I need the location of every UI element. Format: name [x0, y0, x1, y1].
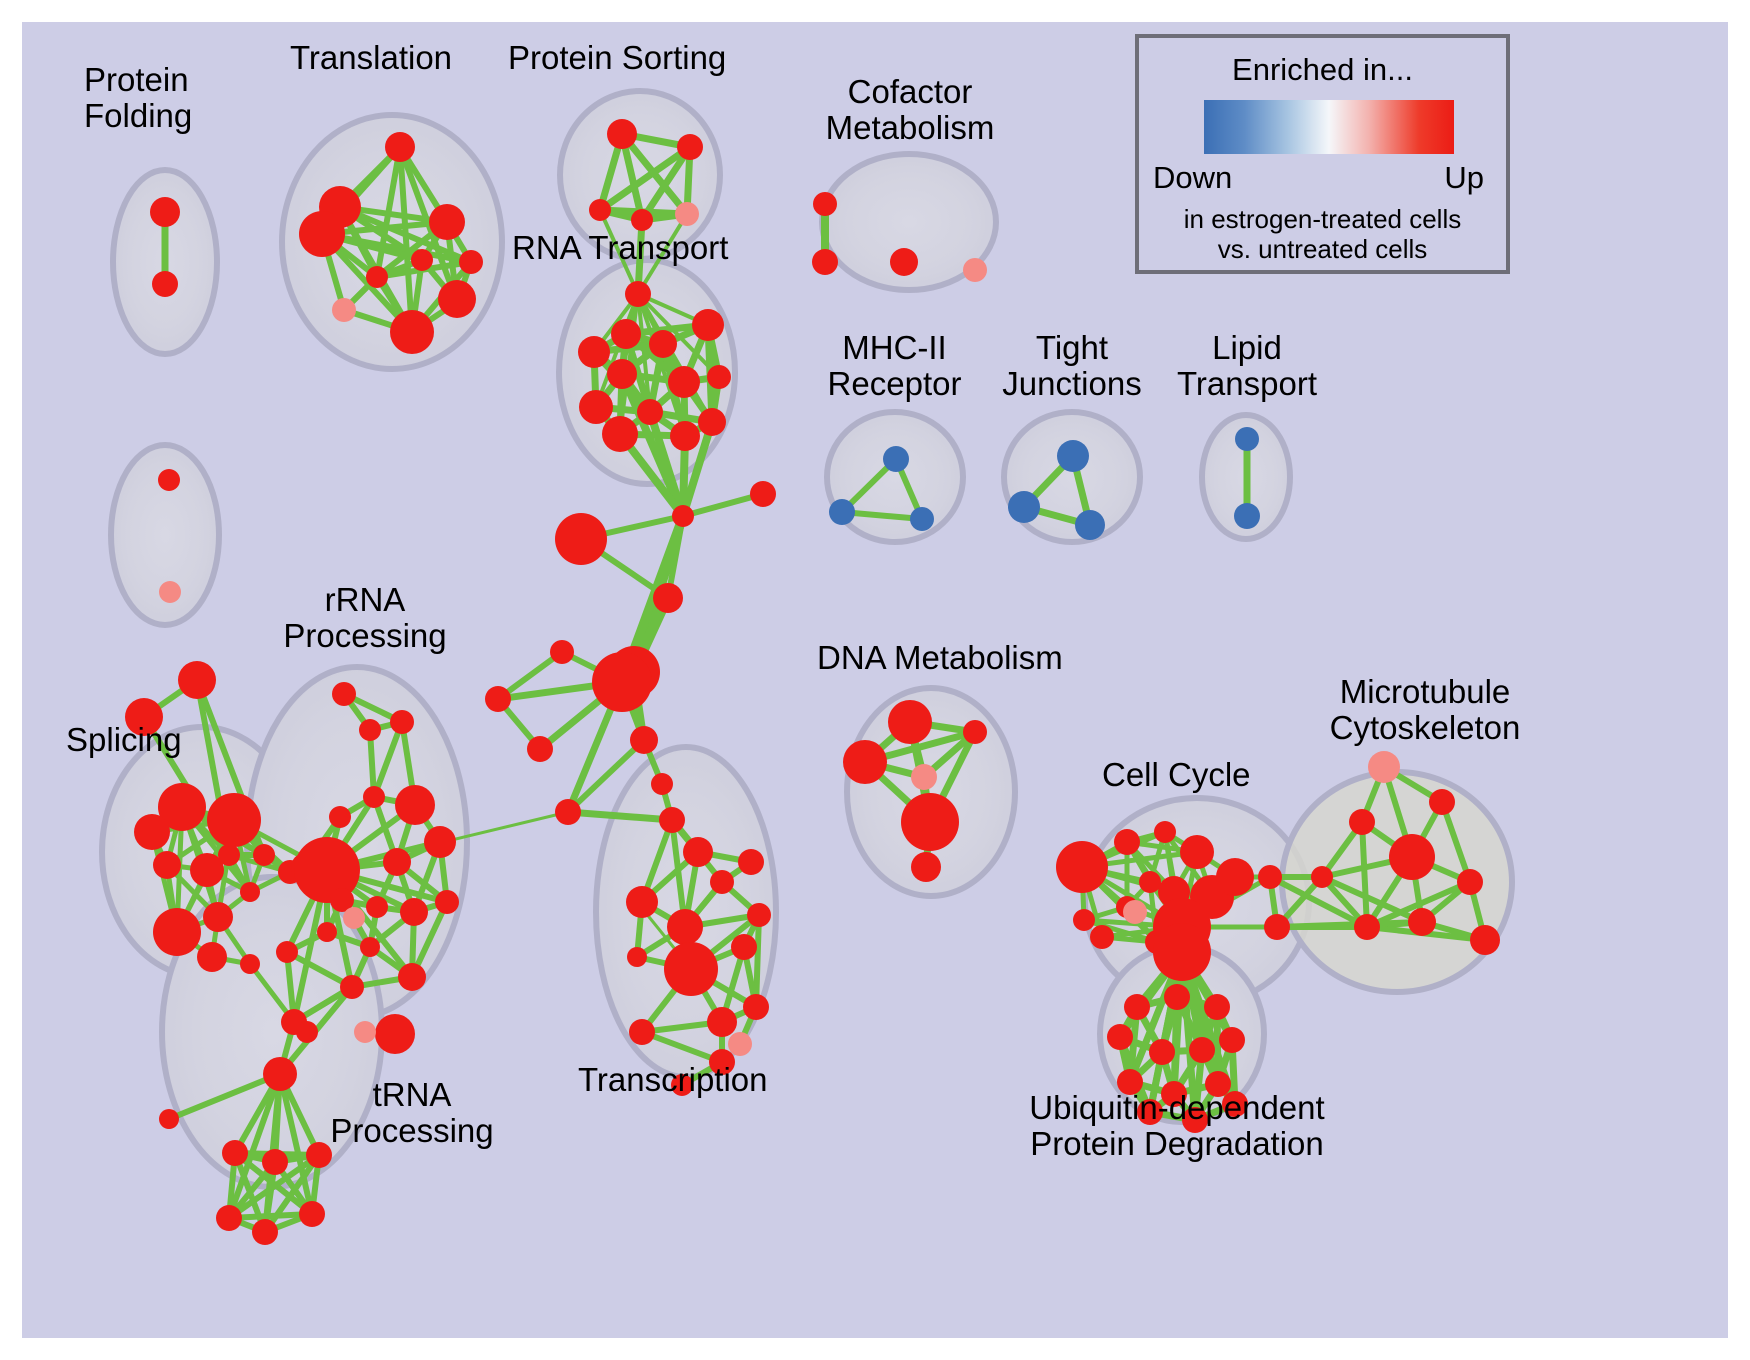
node — [692, 309, 724, 341]
cluster-label-dna-metabolism: DNA Metabolism — [817, 640, 1063, 676]
node — [1235, 427, 1259, 451]
node — [707, 1007, 737, 1037]
node — [459, 250, 483, 274]
node — [1234, 503, 1260, 529]
figure-stage: Protein Folding Translation Protein Sort… — [0, 0, 1750, 1360]
node — [1149, 1039, 1175, 1065]
node — [911, 852, 941, 882]
node — [153, 908, 201, 956]
node — [317, 922, 337, 942]
node — [550, 640, 574, 664]
node — [637, 399, 663, 425]
node — [812, 249, 838, 275]
node — [395, 785, 435, 825]
node — [1389, 834, 1435, 880]
node — [659, 807, 685, 833]
node — [890, 248, 918, 276]
cluster-label-lipid-transport: Lipid Transport — [1157, 330, 1337, 402]
cluster-label-protein-sorting: Protein Sorting — [508, 40, 726, 76]
node — [222, 1140, 248, 1166]
node — [390, 710, 414, 734]
node — [366, 896, 388, 918]
node — [747, 903, 771, 927]
node — [332, 298, 356, 322]
node — [329, 806, 351, 828]
node — [375, 1014, 415, 1054]
node — [1258, 865, 1282, 889]
cluster-label-ubiquitin-protein-degradation: Ubiquitin-dependent Protein Degradation — [977, 1090, 1377, 1162]
node — [385, 132, 415, 162]
node — [190, 853, 224, 887]
node — [150, 197, 180, 227]
cluster-label-mhc-ii-receptor: MHC-II Receptor — [792, 330, 997, 402]
node — [901, 793, 959, 851]
legend-color-gradient-bar — [1204, 100, 1454, 154]
node — [1154, 821, 1176, 843]
node — [1204, 994, 1230, 1020]
node — [299, 1201, 325, 1227]
legend-down-label: Down — [1153, 160, 1232, 196]
node — [1349, 809, 1375, 835]
legend-subtitle-line1: in estrogen-treated cells — [1184, 204, 1461, 234]
node — [843, 740, 887, 784]
node — [631, 209, 653, 231]
node — [607, 359, 637, 389]
node — [698, 408, 726, 436]
cluster-label-translation: Translation — [290, 40, 452, 76]
node — [366, 266, 388, 288]
node — [1408, 908, 1436, 936]
node — [159, 1109, 179, 1129]
node — [592, 652, 652, 712]
node — [813, 192, 837, 216]
cluster-label-microtubule-cytoskeleton: Microtubule Cytoskeleton — [1300, 674, 1550, 746]
node — [411, 249, 433, 271]
node — [602, 416, 638, 452]
legend-panel: Enriched in... Down Up in estrogen-treat… — [1135, 34, 1510, 274]
node — [649, 330, 677, 358]
node — [398, 963, 426, 991]
node — [1164, 984, 1190, 1010]
node — [579, 390, 613, 424]
node — [152, 271, 178, 297]
node — [438, 280, 476, 318]
node — [435, 890, 459, 914]
node — [276, 941, 298, 963]
node — [963, 258, 987, 282]
node — [672, 505, 694, 527]
node — [1311, 866, 1333, 888]
node — [629, 1019, 655, 1045]
node — [710, 870, 734, 894]
cluster-label-rna-transport: RNA Transport — [512, 230, 728, 266]
node — [178, 661, 216, 699]
node — [683, 837, 713, 867]
cluster-label-protein-folding: Protein Folding — [84, 62, 192, 134]
node — [1114, 829, 1140, 855]
node — [1153, 923, 1211, 981]
node — [1354, 914, 1380, 940]
node — [1075, 510, 1105, 540]
node — [728, 1032, 752, 1056]
node — [677, 134, 703, 160]
node — [607, 119, 637, 149]
node — [363, 786, 385, 808]
cluster-label-tight-junctions: Tight Junctions — [977, 330, 1167, 402]
node — [485, 686, 511, 712]
node — [527, 736, 553, 762]
network-canvas: Protein Folding Translation Protein Sort… — [22, 22, 1728, 1338]
node — [240, 954, 260, 974]
node — [390, 310, 434, 354]
node — [253, 844, 275, 866]
node — [153, 851, 181, 879]
cluster-label-rrna-processing: rRNA Processing — [265, 582, 465, 654]
node — [626, 886, 658, 918]
node — [1124, 994, 1150, 1020]
node — [203, 902, 233, 932]
node — [910, 507, 934, 531]
node — [359, 719, 381, 741]
node — [1189, 1037, 1215, 1063]
legend-subtitle: in estrogen-treated cellsvs. untreated c… — [1139, 204, 1506, 264]
node — [1107, 1024, 1133, 1050]
node — [1180, 835, 1214, 869]
node — [360, 937, 380, 957]
node — [424, 826, 456, 858]
node — [675, 202, 699, 226]
node — [1073, 909, 1095, 931]
cluster-label-transcription: Transcription — [578, 1062, 768, 1098]
node — [1216, 858, 1254, 896]
node — [1057, 440, 1089, 472]
node — [555, 513, 607, 565]
node — [625, 281, 651, 307]
node — [911, 764, 937, 790]
cluster-label-splicing: Splicing — [66, 722, 182, 758]
node — [627, 947, 647, 967]
node — [630, 726, 658, 754]
node — [340, 975, 364, 999]
cluster-label-trna-processing: tRNA Processing — [312, 1077, 512, 1149]
legend-subtitle-line2: vs. untreated cells — [1218, 234, 1428, 264]
node — [1457, 869, 1483, 895]
node — [731, 934, 757, 960]
node — [578, 336, 610, 368]
node — [1219, 1027, 1245, 1053]
node — [262, 1149, 288, 1175]
node — [883, 446, 909, 472]
node — [750, 481, 776, 507]
node — [296, 1021, 318, 1043]
node — [667, 909, 703, 945]
node — [611, 319, 641, 349]
node — [1139, 871, 1161, 893]
node — [651, 773, 673, 795]
cluster-label-cofactor-metabolism: Cofactor Metabolism — [800, 74, 1020, 146]
cluster-label-cell-cycle: Cell Cycle — [1102, 757, 1251, 793]
node — [216, 1205, 242, 1231]
node — [207, 793, 261, 847]
node — [1090, 925, 1114, 949]
node — [197, 942, 227, 972]
node — [429, 204, 465, 240]
node — [343, 907, 365, 929]
node — [743, 994, 769, 1020]
node — [888, 700, 932, 744]
node — [263, 1057, 297, 1091]
node — [589, 199, 611, 221]
node — [738, 849, 764, 875]
node — [1123, 900, 1147, 924]
node — [159, 581, 181, 603]
node — [1470, 925, 1500, 955]
node — [670, 421, 700, 451]
node — [400, 898, 428, 926]
node — [158, 469, 180, 491]
node — [1429, 789, 1455, 815]
legend-title: Enriched in... — [1139, 52, 1506, 88]
node — [555, 799, 581, 825]
node — [653, 583, 683, 613]
node — [707, 365, 731, 389]
node — [299, 211, 345, 257]
node — [1008, 491, 1040, 523]
node — [383, 848, 411, 876]
node — [134, 814, 170, 850]
node — [1368, 751, 1400, 783]
node — [252, 1219, 278, 1245]
node — [829, 499, 855, 525]
node — [664, 942, 718, 996]
node — [240, 882, 260, 902]
node — [354, 1021, 376, 1043]
node — [1056, 841, 1108, 893]
node — [332, 682, 356, 706]
node — [668, 366, 700, 398]
node — [963, 720, 987, 744]
node — [1264, 914, 1290, 940]
legend-up-label: Up — [1444, 160, 1484, 196]
